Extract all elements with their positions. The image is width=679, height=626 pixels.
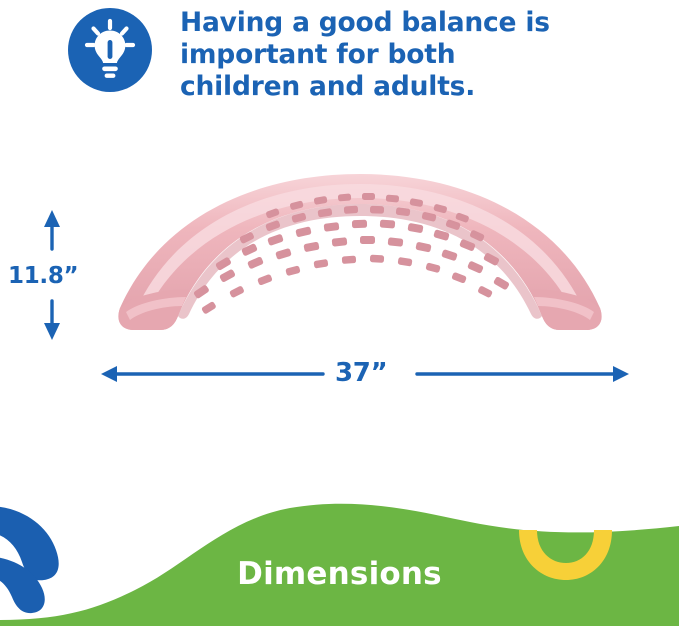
header-line-1: Having a good balance is bbox=[180, 7, 650, 39]
header-text: Having a good balance is important for b… bbox=[180, 7, 650, 103]
width-label: 37” bbox=[335, 358, 387, 388]
image-canvas: Having a good balance is important for b… bbox=[0, 0, 679, 626]
height-label: 11.8” bbox=[8, 263, 98, 289]
balance-board-image bbox=[90, 160, 630, 350]
header-callout: Having a good balance is important for b… bbox=[0, 0, 679, 130]
lightbulb-badge bbox=[68, 8, 152, 92]
header-line-3: children and adults. bbox=[180, 71, 650, 103]
header-line-2: important for both bbox=[180, 39, 650, 71]
footer-shapes bbox=[0, 470, 679, 626]
footer-decoration bbox=[0, 470, 679, 626]
lightbulb-icon bbox=[68, 8, 152, 92]
footer-title: Dimensions bbox=[0, 556, 679, 592]
product-illustration bbox=[90, 160, 630, 350]
